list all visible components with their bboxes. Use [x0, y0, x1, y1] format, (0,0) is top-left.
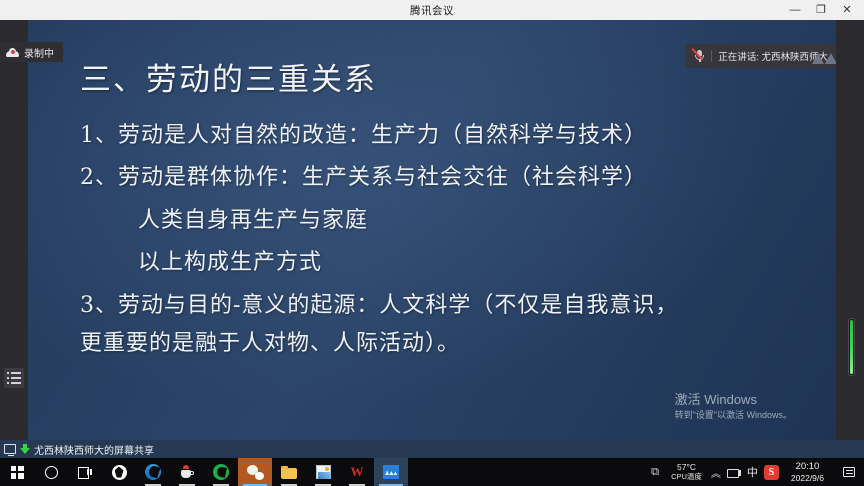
taskbar-app-edge[interactable] — [136, 458, 170, 486]
windows-taskbar: W ⧉ 57°C CPU温度 ︽ 中 S 20:10 2022/9/6 — [0, 458, 864, 486]
participant-list-icon[interactable] — [4, 368, 24, 388]
green-browser-icon — [213, 464, 229, 480]
sogou-input-icon[interactable]: S — [764, 465, 779, 480]
mic-muted-icon — [694, 49, 705, 63]
window-title: 腾讯会议 — [410, 3, 454, 18]
slide-line-4: 以上构成生产方式 — [80, 246, 810, 279]
taskbar-app-green-browser[interactable] — [204, 458, 238, 486]
clock-widget[interactable]: 20:10 2022/9/6 — [785, 461, 830, 483]
window-titlebar: 腾讯会议 — ❐ ✕ — [0, 0, 864, 20]
taskbar-app-wps[interactable]: W — [340, 458, 374, 486]
pentagon-logo-icon — [112, 465, 127, 480]
vertical-level-scrollbar[interactable] — [848, 318, 855, 376]
download-arrow-icon — [20, 444, 30, 455]
notification-center-button[interactable] — [836, 458, 862, 486]
wechat-icon — [247, 465, 264, 480]
watermark-title: 激活 Windows — [675, 392, 792, 409]
slide-line-3: 人类自身再生产与家庭 — [80, 204, 810, 237]
photos-icon — [316, 465, 331, 479]
taskbar-items: W — [0, 458, 408, 486]
wps-icon: W — [350, 465, 365, 479]
taskbar-app-photos[interactable] — [306, 458, 340, 486]
taskbar-app-tencent-meeting[interactable] — [374, 458, 408, 486]
taskbar-app-wechat[interactable] — [238, 458, 272, 486]
meeting-view: 三、劳动的三重关系 1、劳动是人对自然的改造：生产力（自然科学与技术） 2、劳动… — [0, 20, 864, 458]
clock-time: 20:10 — [796, 461, 820, 472]
slide-line-1: 1、劳动是人对自然的改造：生产力（自然科学与技术） — [80, 119, 810, 152]
slide-line-5: 3、劳动与目的-意义的起源：人文科学（不仅是自我意识， — [80, 289, 810, 322]
audio-wave-icon — [812, 48, 836, 64]
active-speaker-indicator[interactable]: 正在讲话: 尤西林陕西师大 — [686, 44, 836, 68]
slide-line-2: 2、劳动是群体协作：生产关系与社会交往（社会科学） — [80, 161, 810, 194]
monitor-icon — [4, 444, 16, 454]
system-tray: ⧉ 57°C CPU温度 ︽ 中 S 20:10 2022/9/6 — [648, 458, 864, 486]
taskbar-app-cup[interactable] — [170, 458, 204, 486]
network-icon[interactable] — [727, 467, 741, 478]
windows-logo-icon — [11, 466, 24, 479]
search-circle-icon — [45, 466, 58, 479]
cpu-temperature-widget[interactable]: 57°C CPU温度 — [668, 463, 705, 481]
start-button[interactable] — [0, 458, 34, 486]
edge-icon — [145, 464, 161, 480]
maximize-button[interactable]: ❐ — [808, 0, 834, 20]
windows-activation-watermark: 激活 Windows 转到"设置"以激活 Windows。 — [675, 392, 792, 422]
share-status-label: 尤西林陕西师大的屏幕共享 — [34, 442, 154, 457]
task-view-icon — [78, 466, 92, 478]
folder-icon — [281, 466, 297, 479]
watermark-subtitle: 转到"设置"以激活 Windows。 — [675, 410, 792, 422]
people-share-icon[interactable]: ⧉ — [648, 466, 662, 479]
taskbar-app-pentagon[interactable] — [102, 458, 136, 486]
recording-label: 录制中 — [24, 45, 54, 60]
shared-screen-slide: 三、劳动的三重关系 1、劳动是人对自然的改造：生产力（自然科学与技术） 2、劳动… — [28, 20, 836, 440]
notification-icon — [843, 467, 855, 477]
chevron-up-icon[interactable]: ︽ — [711, 465, 721, 480]
cloud-recording-icon — [6, 48, 19, 57]
task-view-button[interactable] — [68, 458, 102, 486]
cup-icon — [180, 465, 194, 479]
divider — [711, 50, 712, 62]
ime-mode-label[interactable]: 中 — [747, 464, 758, 480]
screen-share-statusbar: 尤西林陕西师大的屏幕共享 — [0, 440, 864, 458]
window-controls: — ❐ ✕ — [782, 0, 860, 20]
taskbar-app-file-explorer[interactable] — [272, 458, 306, 486]
clock-date: 2022/9/6 — [791, 473, 824, 483]
cpu-temp-label: CPU温度 — [671, 473, 702, 482]
recording-indicator[interactable]: 录制中 — [0, 42, 63, 62]
minimize-button[interactable]: — — [782, 0, 808, 20]
tencent-meeting-icon — [383, 465, 399, 479]
slide-line-6: 更重要的是融于人对物、人际活动）。 — [80, 327, 810, 360]
screen: 腾讯会议 — ❐ ✕ 三、劳动的三重关系 1、劳动是人对自然的改造：生产力（自然… — [0, 0, 864, 486]
close-button[interactable]: ✕ — [834, 0, 860, 20]
cortana-search-button[interactable] — [34, 458, 68, 486]
